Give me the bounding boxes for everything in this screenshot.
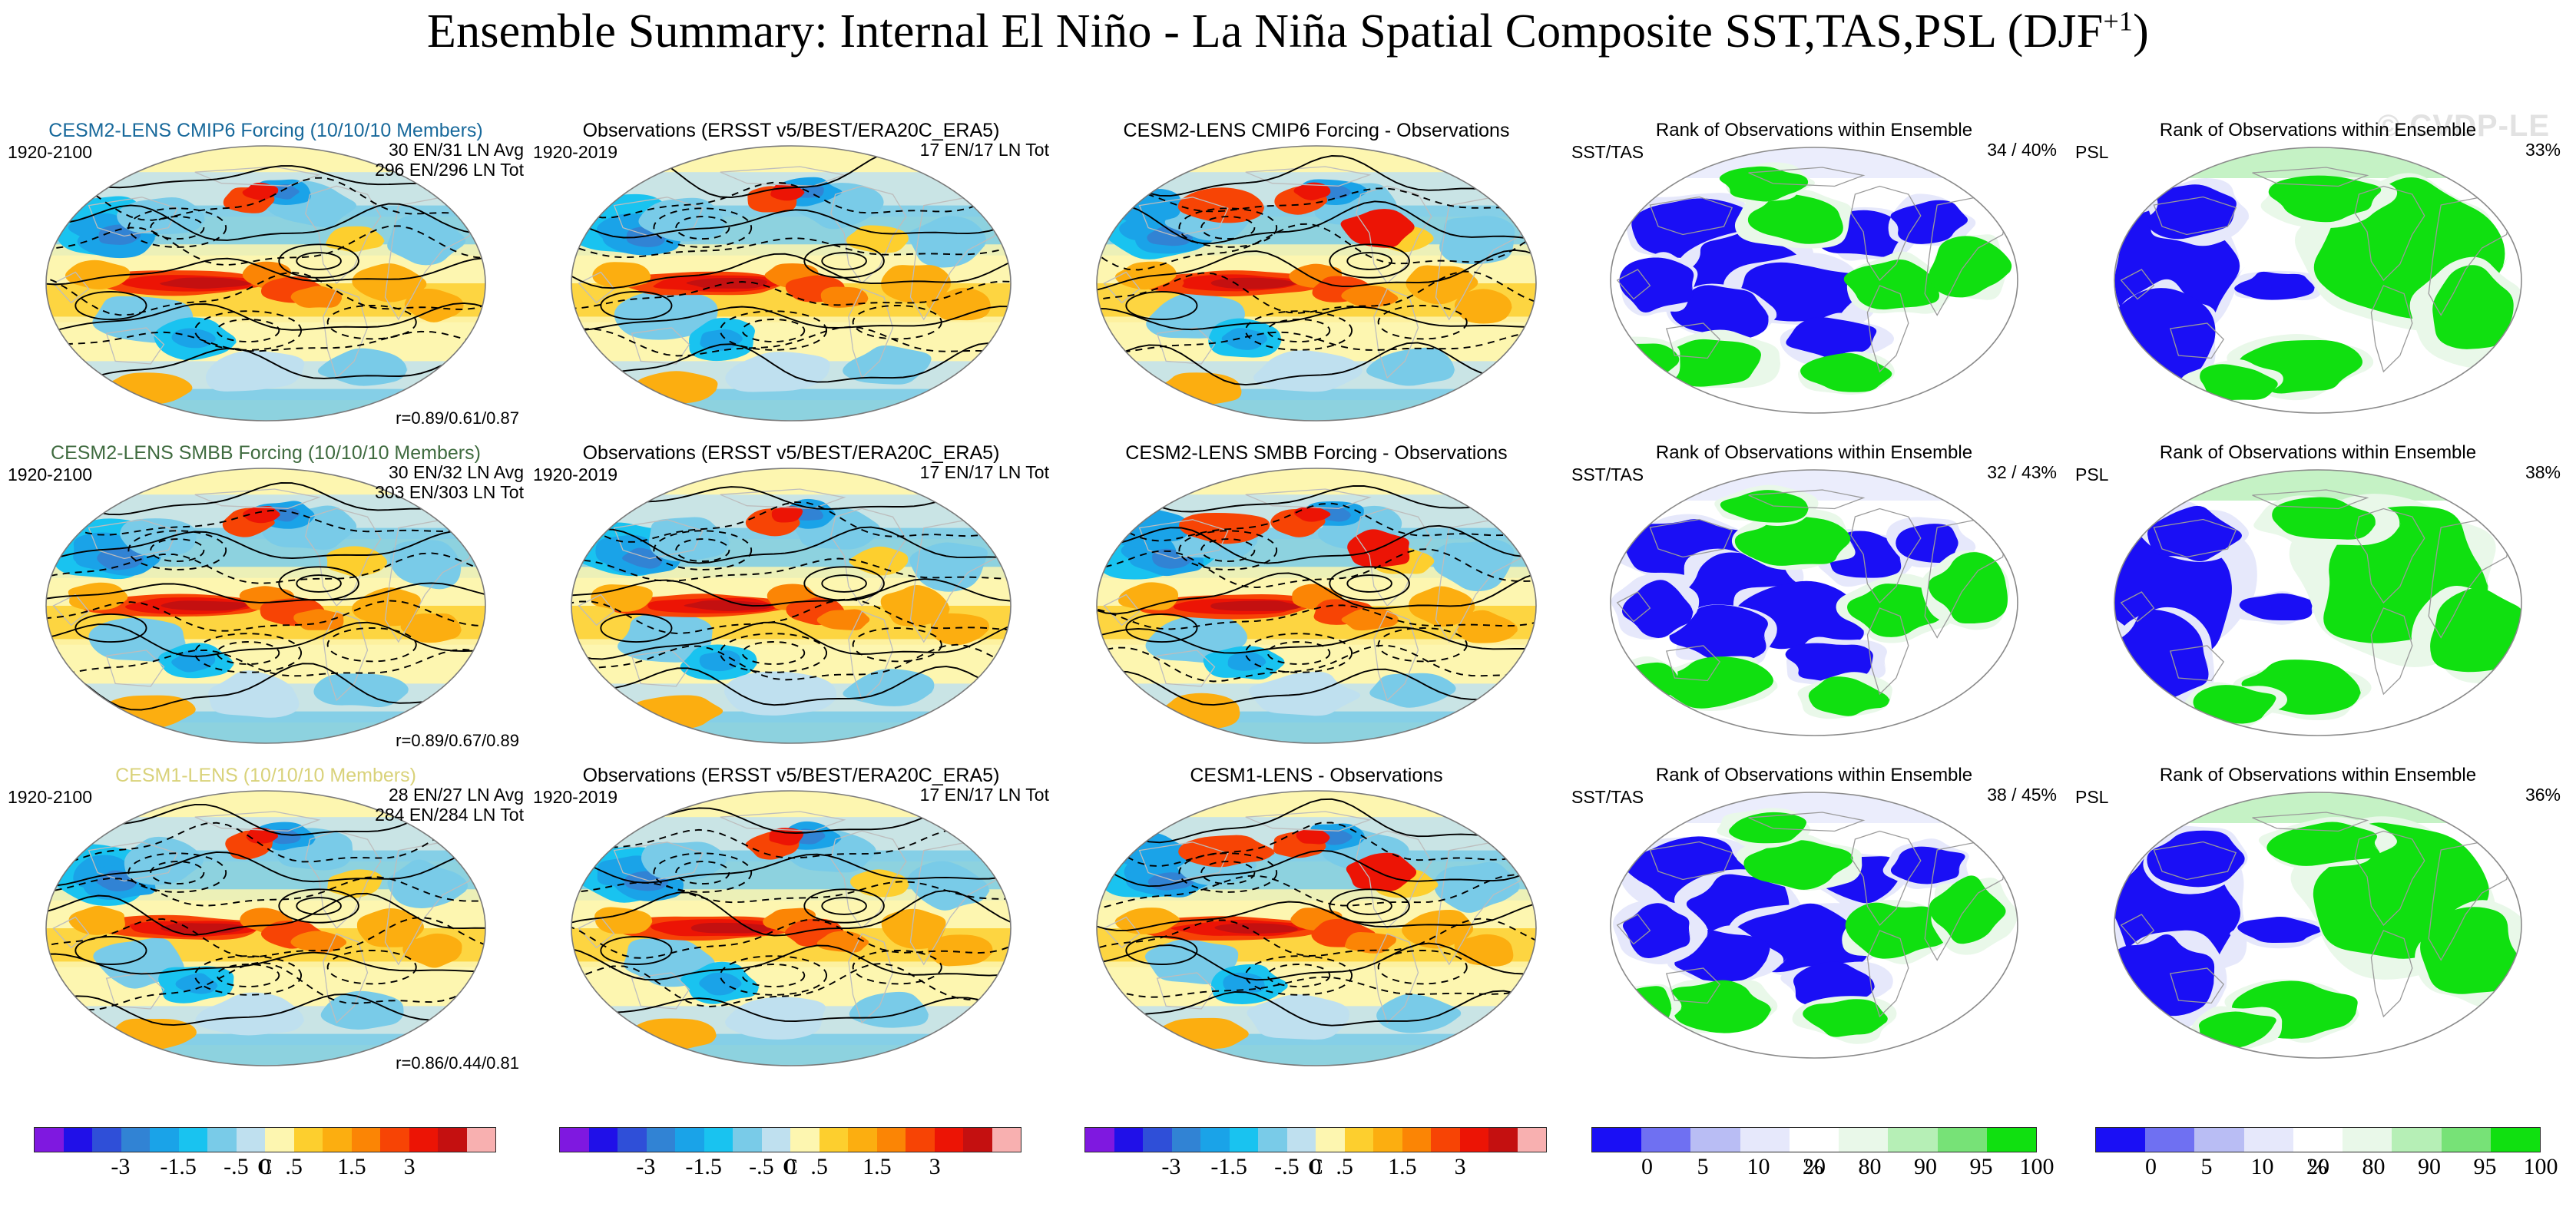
map-observations-ersst[interactable]	[570, 467, 1012, 745]
colorbar-swatch	[2194, 1128, 2243, 1152]
colorbar-temperature-col2: -3-1.5-.50.51.53C	[559, 1127, 1021, 1158]
colorbar-unit-label: %	[2095, 1155, 2541, 1180]
panel-observations-ersst[interactable]: Observations (ERSST v5/BEST/ERA20C_ERA5)…	[531, 115, 1051, 438]
panel-title: CESM1-LENS - Observations	[1057, 765, 1576, 787]
colorbar-swatch	[1114, 1128, 1144, 1152]
panel-period-label: PSL	[2075, 788, 2108, 808]
map-cesm1-minus-observations[interactable]	[1095, 789, 1538, 1067]
panel-correlation-label: r=0.89/0.61/0.87	[396, 408, 519, 428]
panel-cesm2-smbb-minus-observations[interactable]: CESM2-LENS SMBB Forcing - Observations	[1057, 438, 1576, 760]
colorbar-swatch	[560, 1128, 589, 1152]
colorbar-swatch	[1987, 1128, 2036, 1152]
page-title: Ensemble Summary: Internal El Niño - La …	[0, 5, 2576, 59]
colorbar-swatches	[2095, 1127, 2541, 1152]
panel-period-label: 1920-2100	[8, 788, 92, 808]
colorbar-swatch	[762, 1128, 791, 1152]
panel-period-label: 1920-2019	[533, 143, 618, 163]
colorbar-swatch	[1888, 1128, 1937, 1152]
panel-title: Observations (ERSST v5/BEST/ERA20C_ERA5)	[531, 765, 1051, 787]
panel-counts-label: 30 EN/31 LN Avg296 EN/296 LN Tot	[375, 141, 524, 180]
map-rank-psl[interactable]	[2113, 791, 2523, 1060]
panel-correlation-label: r=0.89/0.67/0.89	[396, 731, 519, 751]
panel-title: Rank of Observations within Ensemble	[1570, 442, 2058, 464]
panel-title: Observations (ERSST v5/BEST/ERA20C_ERA5)	[531, 120, 1051, 142]
colorbar-unit-label: C	[1084, 1155, 1547, 1180]
colorbar-swatch	[1431, 1128, 1460, 1152]
panel-counts-label: 36%	[2525, 785, 2561, 805]
colorbar-swatches	[1591, 1127, 2037, 1152]
colorbar-swatch	[1258, 1128, 1287, 1152]
panel-rank-psl[interactable]: Rank of Observations within EnsemblePSL3…	[2074, 438, 2562, 760]
panel-cesm2-lens-cmip6-forcing[interactable]: CESM2-LENS CMIP6 Forcing (10/10/10 Membe…	[6, 115, 525, 438]
panel-rank-sst-tas[interactable]: Rank of Observations within EnsembleSST/…	[1570, 760, 2058, 1083]
colorbar-swatch	[906, 1128, 935, 1152]
colorbar-swatch	[207, 1128, 237, 1152]
colorbar-swatch	[2392, 1128, 2441, 1152]
colorbar-swatch	[1287, 1128, 1316, 1152]
panel-period-label: 1920-2019	[533, 788, 618, 808]
panel-title: Rank of Observations within Ensemble	[1570, 120, 2058, 141]
colorbar-swatch	[1230, 1128, 1259, 1152]
colorbar-swatch	[1460, 1128, 1489, 1152]
colorbar-swatch	[1200, 1128, 1230, 1152]
colorbar-unit-label: C	[34, 1155, 496, 1180]
colorbar-temperature-col3: -3-1.5-.50.51.53C	[1084, 1127, 1547, 1158]
panel-counts-label: 17 EN/17 LN Tot	[920, 463, 1049, 483]
colorbar-swatch	[35, 1128, 64, 1152]
colorbar-swatch	[1172, 1128, 1201, 1152]
colorbar-swatch	[1790, 1128, 1839, 1152]
map-cesm2-lens-cmip6-forcing[interactable]	[45, 144, 487, 422]
panel-rank-sst-tas[interactable]: Rank of Observations within EnsembleSST/…	[1570, 438, 2058, 760]
panel-observations-ersst[interactable]: Observations (ERSST v5/BEST/ERA20C_ERA5)…	[531, 438, 1051, 760]
colorbar-swatch	[2442, 1128, 2491, 1152]
colorbar-swatch	[992, 1128, 1021, 1152]
panel-cesm2-cmip6-minus-observations[interactable]: CESM2-LENS CMIP6 Forcing - Observations	[1057, 115, 1576, 438]
colorbar-rank-col4: 051020809095100%	[1591, 1127, 2037, 1158]
colorbar-swatch	[963, 1128, 992, 1152]
colorbar-swatch	[589, 1128, 618, 1152]
colorbar-swatch	[2293, 1128, 2343, 1152]
colorbar-swatch	[409, 1128, 439, 1152]
panel-title: Rank of Observations within Ensemble	[2074, 120, 2562, 141]
map-cesm1-lens[interactable]	[45, 789, 487, 1067]
colorbar-swatch	[467, 1128, 496, 1152]
colorbar-swatch	[675, 1128, 704, 1152]
panel-title: CESM1-LENS (10/10/10 Members)	[6, 765, 525, 787]
panel-period-label: 1920-2019	[533, 465, 618, 485]
panel-counts-label: 30 EN/32 LN Avg303 EN/303 LN Tot	[375, 463, 524, 503]
panel-period-label: SST/TAS	[1571, 143, 1644, 163]
map-rank-psl[interactable]	[2113, 468, 2523, 737]
colorbar-swatch	[2343, 1128, 2392, 1152]
colorbar-swatch	[438, 1128, 467, 1152]
colorbar-rank-col5: 051020809095100%	[2095, 1127, 2541, 1158]
panel-counts-label: 28 EN/27 LN Avg284 EN/284 LN Tot	[375, 785, 524, 825]
colorbar-swatch	[121, 1128, 151, 1152]
panel-cesm1-lens[interactable]: CESM1-LENS (10/10/10 Members)1920-210028…	[6, 760, 525, 1083]
panel-title: CESM2-LENS SMBB Forcing (10/10/10 Member…	[6, 442, 525, 465]
colorbar-swatch	[352, 1128, 381, 1152]
map-observations-ersst[interactable]	[570, 144, 1012, 422]
colorbar-swatch	[1402, 1128, 1432, 1152]
map-rank-sst-tas[interactable]	[1609, 468, 2019, 737]
panel-title: Rank of Observations within Ensemble	[2074, 765, 2562, 786]
page-title-superscript: +1	[2103, 5, 2133, 36]
colorbar-swatch	[2491, 1128, 2540, 1152]
panel-rank-sst-tas[interactable]: Rank of Observations within EnsembleSST/…	[1570, 115, 2058, 438]
panel-rank-psl[interactable]: Rank of Observations within EnsemblePSL3…	[2074, 760, 2562, 1083]
colorbar-swatch	[704, 1128, 733, 1152]
colorbar-swatch	[92, 1128, 121, 1152]
panel-counts-label: 34 / 40%	[1987, 141, 2057, 160]
map-rank-sst-tas[interactable]	[1609, 791, 2019, 1060]
colorbar-swatch	[1345, 1128, 1374, 1152]
panel-title: Observations (ERSST v5/BEST/ERA20C_ERA5)	[531, 442, 1051, 465]
panel-row: CESM2-LENS CMIP6 Forcing (10/10/10 Membe…	[0, 115, 2576, 438]
panel-counts-label: 38 / 45%	[1987, 785, 2057, 805]
panel-period-label: 1920-2100	[8, 143, 92, 163]
colorbar-swatch	[618, 1128, 647, 1152]
colorbar-swatch	[877, 1128, 906, 1152]
panel-grid: CESM2-LENS CMIP6 Forcing (10/10/10 Membe…	[0, 115, 2576, 1083]
panel-period-label: SST/TAS	[1571, 788, 1644, 808]
colorbar-swatch	[265, 1128, 294, 1152]
colorbar-temperature-col1: -3-1.5-.50.51.53C	[34, 1127, 496, 1158]
colorbar-swatch	[819, 1128, 849, 1152]
colorbar-swatch	[380, 1128, 409, 1152]
colorbar-swatch	[179, 1128, 208, 1152]
colorbar-swatch	[1641, 1128, 1690, 1152]
colorbar-swatch	[1316, 1128, 1345, 1152]
colorbar-swatch	[1488, 1128, 1518, 1152]
panel-title: CESM2-LENS CMIP6 Forcing (10/10/10 Membe…	[6, 120, 525, 142]
colorbar-swatch	[1690, 1128, 1740, 1152]
panel-period-label: 1920-2100	[8, 465, 92, 485]
colorbar-swatch	[1518, 1128, 1547, 1152]
panel-rank-psl[interactable]: Rank of Observations within EnsemblePSL3…	[2074, 115, 2562, 438]
colorbar-swatches	[559, 1127, 1021, 1152]
colorbar-swatch	[150, 1128, 179, 1152]
panel-title: CESM2-LENS SMBB Forcing - Observations	[1057, 442, 1576, 465]
colorbar-swatch	[1373, 1128, 1402, 1152]
map-cesm2-lens-smbb-forcing[interactable]	[45, 467, 487, 745]
panel-correlation-label: r=0.86/0.44/0.81	[396, 1053, 519, 1073]
colorbar-unit-label: C	[559, 1155, 1021, 1180]
panel-counts-label: 32 / 43%	[1987, 463, 2057, 483]
colorbar-swatch	[848, 1128, 877, 1152]
colorbar-swatch	[1938, 1128, 1987, 1152]
colorbar-unit-label: %	[1591, 1155, 2037, 1180]
colorbar-swatch	[647, 1128, 676, 1152]
panel-title: Rank of Observations within Ensemble	[1570, 765, 2058, 786]
map-rank-psl[interactable]	[2113, 146, 2523, 415]
colorbar-swatch	[1592, 1128, 1641, 1152]
panel-row: CESM2-LENS SMBB Forcing (10/10/10 Member…	[0, 438, 2576, 760]
colorbar-swatch	[1143, 1128, 1172, 1152]
panel-counts-label: 17 EN/17 LN Tot	[920, 141, 1049, 160]
map-observations-ersst[interactable]	[570, 789, 1012, 1067]
panel-counts-label: 38%	[2525, 463, 2561, 483]
panel-row: CESM1-LENS (10/10/10 Members)1920-210028…	[0, 760, 2576, 1083]
colorbar-swatch	[64, 1128, 93, 1152]
panel-counts-label: 33%	[2525, 141, 2561, 160]
panel-period-label: PSL	[2075, 143, 2108, 163]
colorbar-swatch	[790, 1128, 819, 1152]
colorbar-swatch	[2244, 1128, 2293, 1152]
colorbar-swatch	[1740, 1128, 1790, 1152]
colorbar-swatch	[294, 1128, 323, 1152]
panel-cesm1-minus-observations[interactable]: CESM1-LENS - Observations	[1057, 760, 1576, 1083]
panel-period-label: PSL	[2075, 465, 2108, 485]
panel-counts-label: 17 EN/17 LN Tot	[920, 785, 1049, 805]
colorbar-swatch	[2096, 1128, 2145, 1152]
colorbar-swatch	[1839, 1128, 1888, 1152]
colorbar-swatch	[323, 1128, 352, 1152]
colorbar-swatch	[237, 1128, 266, 1152]
colorbar-swatch	[1085, 1128, 1114, 1152]
colorbar-swatch	[733, 1128, 762, 1152]
panel-title: CESM2-LENS CMIP6 Forcing - Observations	[1057, 120, 1576, 142]
map-cesm2-smbb-minus-observations[interactable]	[1095, 467, 1538, 745]
panel-period-label: SST/TAS	[1571, 465, 1644, 485]
map-cesm2-cmip6-minus-observations[interactable]	[1095, 144, 1538, 422]
colorbar-swatches	[34, 1127, 496, 1152]
page-title-text: Ensemble Summary: Internal El Niño - La …	[427, 5, 2103, 58]
colorbar-swatches	[1084, 1127, 1547, 1152]
panel-cesm2-lens-smbb-forcing[interactable]: CESM2-LENS SMBB Forcing (10/10/10 Member…	[6, 438, 525, 760]
colorbar-swatch	[935, 1128, 964, 1152]
panel-title: Rank of Observations within Ensemble	[2074, 442, 2562, 464]
colorbar-swatch	[2145, 1128, 2194, 1152]
page-title-tail: )	[2133, 5, 2149, 58]
map-rank-sst-tas[interactable]	[1609, 146, 2019, 415]
panel-observations-ersst[interactable]: Observations (ERSST v5/BEST/ERA20C_ERA5)…	[531, 760, 1051, 1083]
